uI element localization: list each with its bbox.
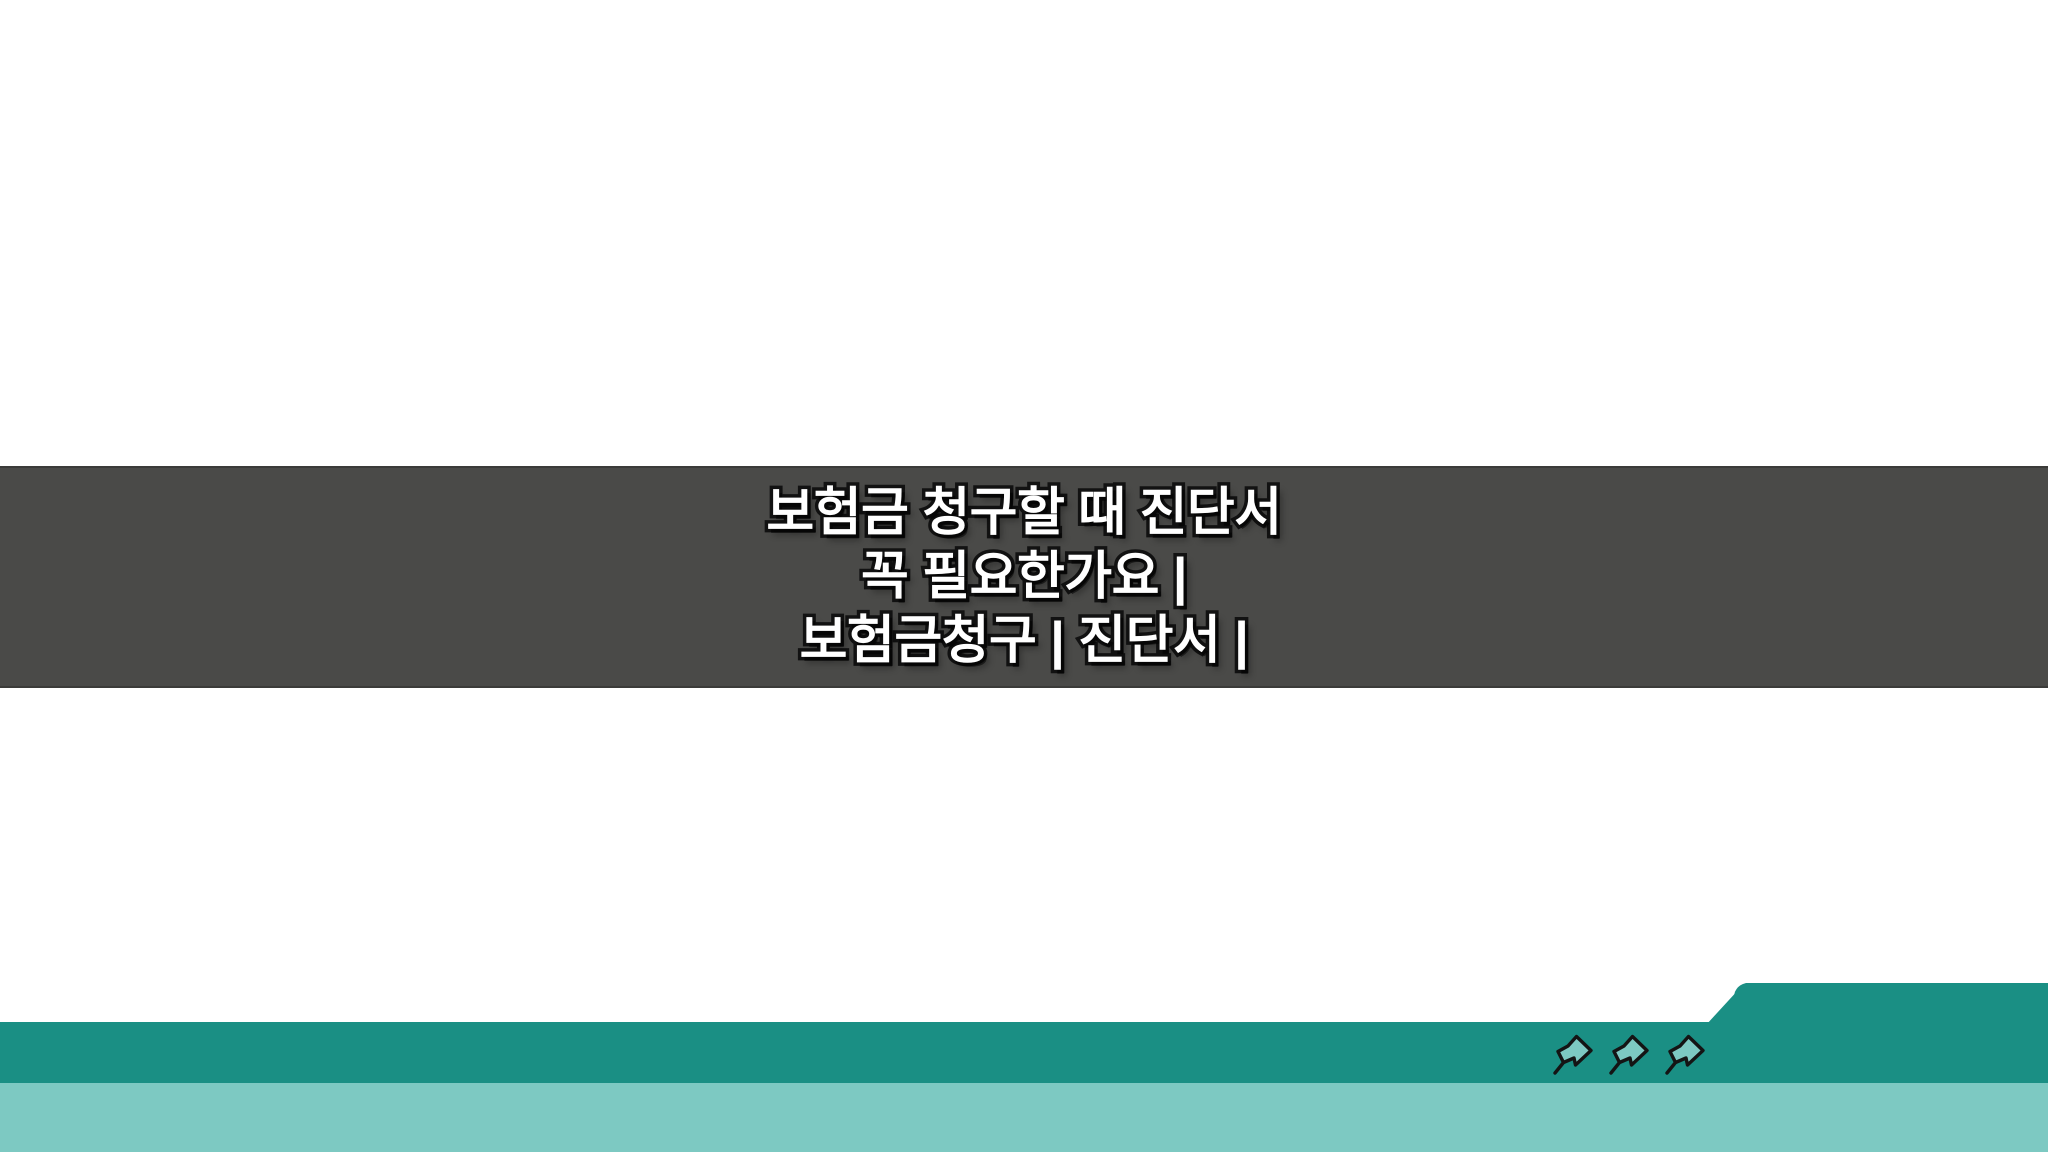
- pushpin-icon[interactable]: [1664, 1032, 1708, 1076]
- footer-step-corner: [1734, 983, 1756, 1005]
- caption-line-1: 보험금 청구할 때 진단서: [766, 481, 1281, 545]
- pushpin-icon[interactable]: [1608, 1032, 1652, 1076]
- footer-dark-teal-bar: [0, 1022, 2048, 1083]
- footer-light-teal-bar: [0, 1083, 2048, 1152]
- pushpin-icon[interactable]: [1552, 1032, 1596, 1076]
- caption-band: 보험금 청구할 때 진단서 꼭 필요한가요 | 보험금청구 | 진단서 |: [0, 466, 2048, 688]
- upper-blank-canvas: [0, 0, 2048, 466]
- caption-line-2: 꼭 필요한가요 |: [861, 545, 1187, 609]
- footer-step-riser: [1706, 983, 2048, 1025]
- footer-icon-row: [1552, 1026, 1728, 1082]
- middle-blank-canvas: [0, 688, 2048, 1022]
- caption-line-3: 보험금청구 | 진단서 |: [800, 609, 1249, 673]
